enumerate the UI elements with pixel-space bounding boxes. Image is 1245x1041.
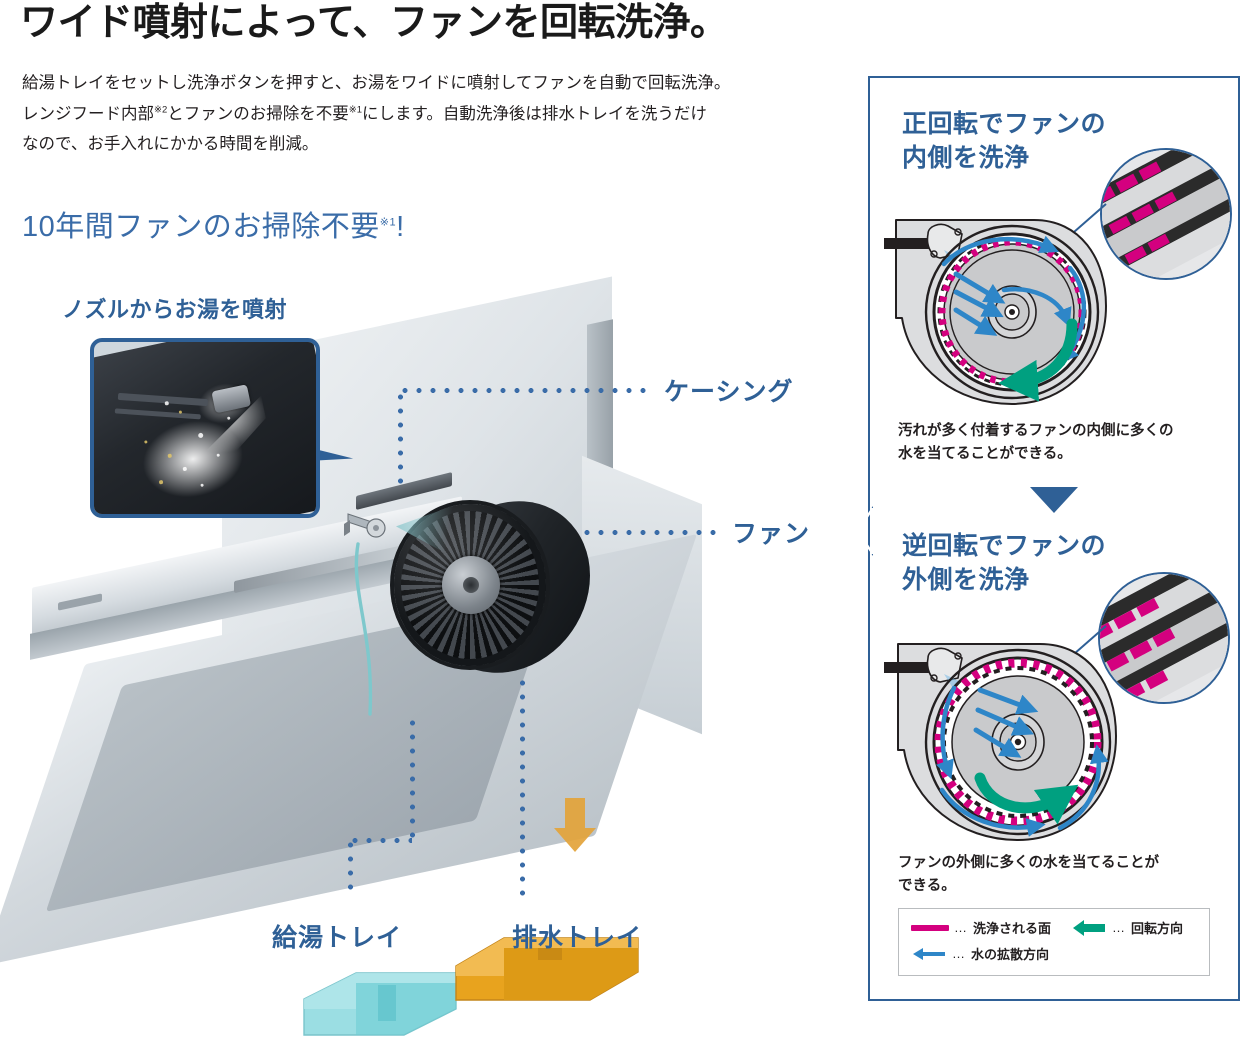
panel-step2-caption-line2: できる。 xyxy=(898,875,1220,898)
sub-headline-text: 10年間ファンのお掃除不要 xyxy=(22,211,380,243)
sub-headline-mark: ! xyxy=(396,211,405,243)
body-line-2b: とファンのお掃除を不要 xyxy=(167,105,349,123)
label-water-tray: 給湯トレイ xyxy=(272,918,402,954)
green-arrow-icon xyxy=(1071,920,1107,936)
panel-step1-caption-line2: 水を当てることができる。 xyxy=(898,443,1218,466)
legend-dots-2: … xyxy=(1112,920,1126,935)
step-transition-arrow-icon xyxy=(1030,487,1078,513)
body-line-2c: にします。自動洗浄後は排水トレイを洗うだけ xyxy=(362,105,707,123)
panel-step1-title-line2: 内側を洗浄 xyxy=(902,142,1106,176)
panel-step2-title-line1: 逆回転でファンの xyxy=(902,530,1106,564)
magenta-line-swatch xyxy=(911,925,949,931)
leader-fan-horizontal xyxy=(580,530,720,535)
panel-step2-title-line2: 外側を洗浄 xyxy=(902,564,1106,598)
panel-step1-title-line1: 正回転でファンの xyxy=(902,108,1106,142)
sub-headline: 10年間ファンのお掃除不要※1! xyxy=(22,203,405,245)
body-line-2: レンジフード内部※2とファンのお掃除を不要※1にします。自動洗浄後は排水トレイを… xyxy=(22,99,852,130)
panel-step1-caption: 汚れが多く付着するファンの内側に多くの 水を当てることができる。 xyxy=(898,420,1218,466)
body-line-2a: レンジフード内部 xyxy=(22,105,154,123)
page-title: ワイド噴射によって、ファンを回転洗浄。 xyxy=(20,2,860,46)
leader-casing-horizontal xyxy=(398,388,648,393)
blue-arrow-icon xyxy=(911,947,947,961)
sub-headline-footnote: ※1 xyxy=(380,216,396,228)
body-line-1: 給湯トレイをセットし洗浄ボタンを押すと、お湯をワイドに噴射してファンを自動で回転… xyxy=(22,68,852,99)
footnote-mark-2: ※2 xyxy=(154,104,167,115)
sirocco-fan-assembly xyxy=(390,498,590,698)
legend-row-1: … 洗浄される面 … 回転方向 xyxy=(911,918,1197,937)
fan-diagram-reverse-rotation xyxy=(884,630,1134,856)
water-stream xyxy=(340,538,410,718)
footnote-mark-1: ※1 xyxy=(349,104,362,115)
leader-water-tray-horizontal xyxy=(348,838,412,843)
leader-casing-vertical xyxy=(398,390,403,486)
panel-step2-caption-line1: ファンの外側に多くの水を当てることが xyxy=(898,852,1220,875)
drain-flow-arrow-icon xyxy=(552,798,598,854)
legend-label-cleaned-surface: 洗浄される面 xyxy=(973,918,1051,937)
legend-dots-3: … xyxy=(952,946,966,961)
body-line-3: なので、お手入れにかかる時間を削減。 xyxy=(22,129,852,160)
legend-dots-1: … xyxy=(954,920,968,935)
legend-label-water-diffusion: 水の拡散方向 xyxy=(971,944,1049,963)
leader-drain-tray-vertical xyxy=(520,676,525,896)
label-fan: ファン xyxy=(732,514,810,550)
nozzle-callout-label: ノズルからお湯を噴射 xyxy=(62,292,287,324)
legend-item-rotation: … 回転方向 xyxy=(1071,918,1183,937)
nozzle-head-icon xyxy=(211,384,251,413)
leader-water-tray-drop xyxy=(348,838,353,896)
panel-connector-notch xyxy=(851,506,873,556)
leader-water-tray-vertical xyxy=(410,716,415,838)
fan-hub xyxy=(442,556,500,614)
panel-step2-title: 逆回転でファンの 外側を洗浄 xyxy=(902,530,1106,598)
legend-label-rotation: 回転方向 xyxy=(1131,918,1183,937)
nozzle-photo-content xyxy=(90,338,320,518)
fan-diagram-forward-rotation xyxy=(884,206,1124,418)
legend-item-cleaned-surface: … 洗浄される面 xyxy=(911,918,1051,937)
legend-box: … 洗浄される面 … 回転方向 … 水の拡散方向 xyxy=(898,908,1210,976)
label-drain-tray: 排水トレイ xyxy=(512,918,642,954)
hot-water-supply-tray xyxy=(300,965,460,1041)
label-casing: ケーシング xyxy=(664,372,794,408)
panel-step1-title: 正回転でファンの 内側を洗浄 xyxy=(902,108,1106,176)
page-root: ワイド噴射によって、ファンを回転洗浄。 給湯トレイをセットし洗浄ボタンを押すと、… xyxy=(0,0,1245,1008)
body-copy: 給湯トレイをセットし洗浄ボタンを押すと、お湯をワイドに噴射してファンを自動で回転… xyxy=(22,68,852,160)
panel-step1-caption-line1: 汚れが多く付着するファンの内側に多くの xyxy=(898,420,1218,443)
legend-row-2: … 水の拡散方向 xyxy=(911,944,1197,963)
legend-item-water-diffusion: … 水の拡散方向 xyxy=(911,944,1049,963)
panel-step2-caption: ファンの外側に多くの水を当てることが できる。 xyxy=(898,852,1220,898)
nozzle-photo xyxy=(90,338,320,518)
